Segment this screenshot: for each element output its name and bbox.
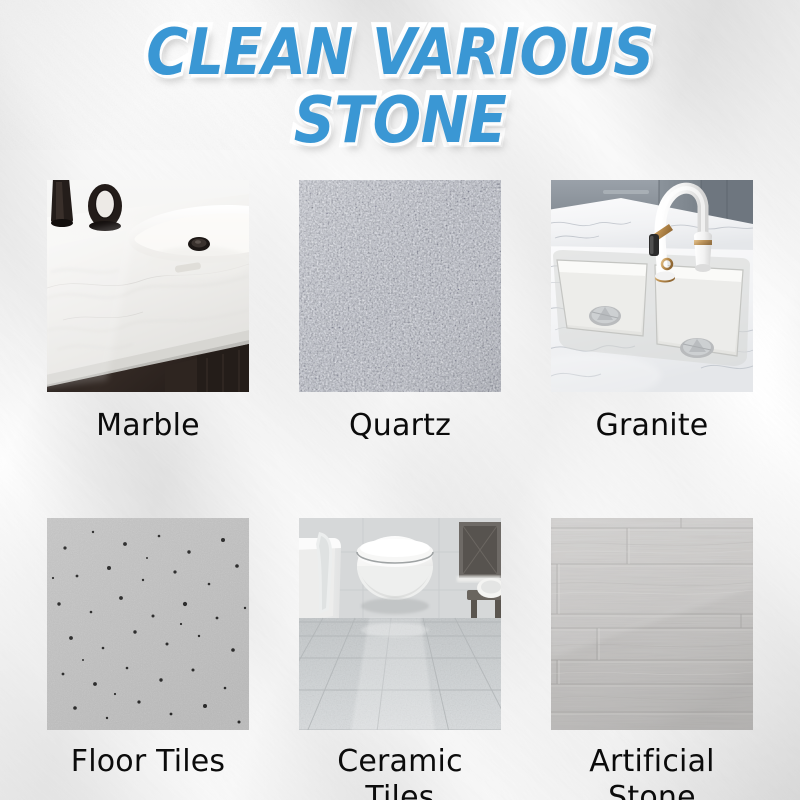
page-title: CLEAN VARIOUS STONE [0, 18, 800, 148]
stone-card-artificial-stone[interactable]: Artificial Stone [551, 518, 753, 800]
stone-card-label-granite: Granite [551, 408, 753, 444]
artificial-stone-thumbnail[interactable] [551, 518, 753, 730]
quartz-thumbnail[interactable] [299, 180, 501, 392]
floor-tiles-illustration [47, 518, 249, 730]
marble-illustration [47, 180, 249, 392]
stone-grid-row-2: Floor Tiles [47, 518, 753, 800]
ceramic-tiles-thumbnail[interactable] [299, 518, 501, 730]
stone-card-marble[interactable]: Marble [47, 180, 249, 444]
ceramic-tiles-illustration [299, 518, 501, 730]
stone-card-label-artificial-stone: Artificial Stone [551, 744, 753, 800]
artificial-stone-illustration [551, 518, 753, 730]
stone-card-label-marble: Marble [47, 408, 249, 444]
stone-card-label-floor-tiles: Floor Tiles [47, 744, 249, 780]
title-line-2: STONE [0, 86, 800, 155]
granite-illustration [551, 180, 753, 392]
stone-type-grid: Marble [47, 180, 753, 800]
stone-card-quartz[interactable]: Quartz [299, 180, 501, 444]
stone-card-floor-tiles[interactable]: Floor Tiles [47, 518, 249, 800]
granite-thumbnail[interactable] [551, 180, 753, 392]
stone-card-label-ceramic-tiles: Ceramic Tiles [299, 744, 501, 800]
stone-grid-row-1: Marble [47, 180, 753, 444]
stone-card-ceramic-tiles[interactable]: Ceramic Tiles [299, 518, 501, 800]
stone-card-label-quartz: Quartz [299, 408, 501, 444]
title-line-1: CLEAN VARIOUS [0, 18, 800, 87]
marble-thumbnail[interactable] [47, 180, 249, 392]
floor-tiles-thumbnail[interactable] [47, 518, 249, 730]
stone-card-granite[interactable]: Granite [551, 180, 753, 444]
quartz-illustration [299, 180, 501, 392]
